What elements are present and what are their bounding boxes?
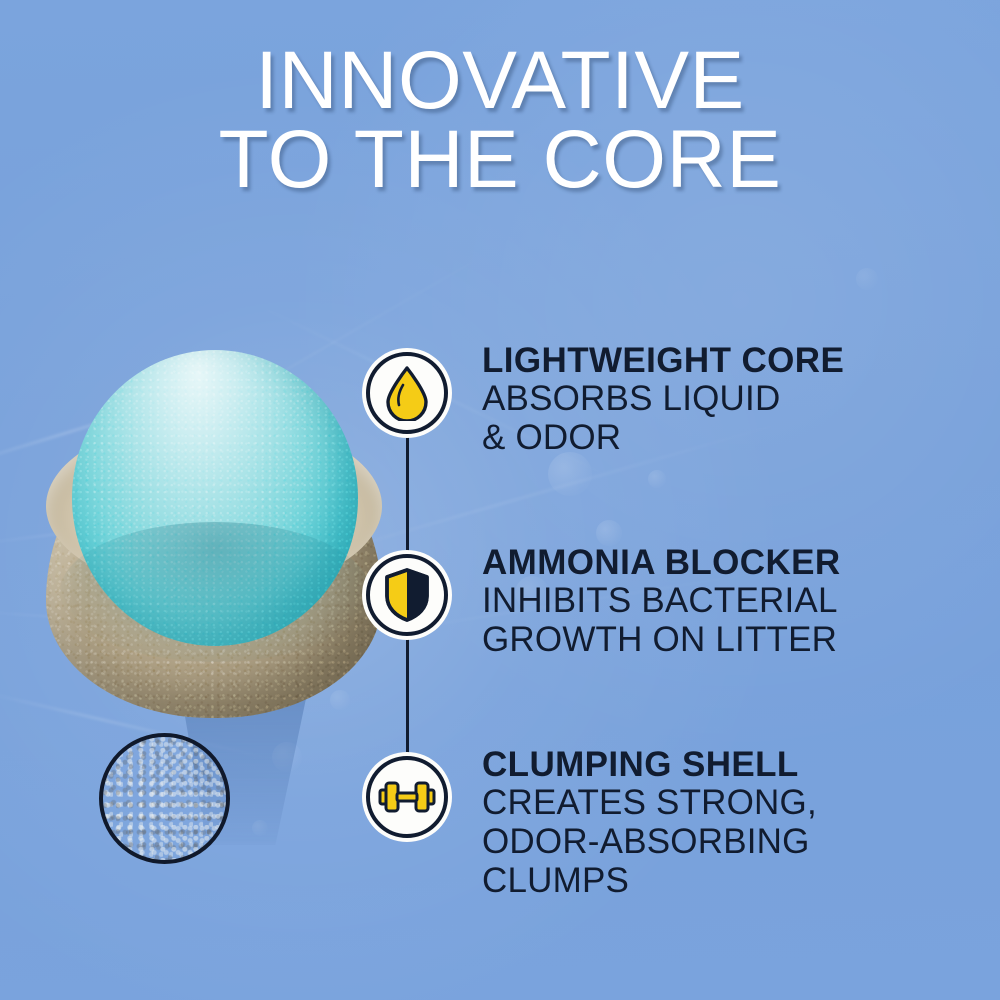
bokeh-dot: [272, 742, 302, 772]
feature-item-ammonia-blocker: AMMONIA BLOCKER INHIBITS BACTERIAL GROWT…: [366, 554, 966, 756]
feature-text-block: CLUMPING SHELL CREATES STRONG, ODOR-ABSO…: [482, 746, 817, 901]
droplet-icon-badge: [366, 352, 448, 434]
feature-description: INHIBITS BACTERIAL GROWTH ON LITTER: [482, 581, 841, 659]
feature-title: CLUMPING SHELL: [482, 746, 817, 783]
feature-text-block: AMMONIA BLOCKER INHIBITS BACTERIAL GROWT…: [482, 544, 841, 659]
granules-texture: [103, 737, 226, 860]
page-title: INNOVATIVE TO THE CORE: [0, 42, 1000, 199]
connector-line: [406, 636, 409, 758]
product-infographic-poster: INNOVATIVE TO THE CORE LIGHTWEIGHT CORE: [0, 0, 1000, 1000]
product-cutaway-illustration: [20, 340, 400, 720]
bokeh-dot: [252, 820, 268, 836]
dumbbell-icon: [378, 777, 436, 817]
connector-line: [406, 434, 409, 556]
shield-icon-badge: [366, 554, 448, 636]
feature-description: ABSORBS LIQUID & ODOR: [482, 379, 844, 457]
feature-list: LIGHTWEIGHT CORE ABSORBS LIQUID & ODOR A…: [366, 352, 966, 901]
bokeh-dot: [856, 268, 878, 290]
feature-text-block: LIGHTWEIGHT CORE ABSORBS LIQUID & ODOR: [482, 342, 844, 457]
feature-item-clumping-shell: CLUMPING SHELL CREATES STRONG, ODOR-ABSO…: [366, 756, 966, 901]
dumbbell-icon-badge: [366, 756, 448, 838]
feature-item-lightweight-core: LIGHTWEIGHT CORE ABSORBS LIQUID & ODOR: [366, 352, 966, 554]
core-texture: [72, 350, 358, 646]
feature-description: CREATES STRONG, ODOR-ABSORBING CLUMPS: [482, 783, 817, 901]
droplet-icon: [382, 365, 432, 421]
shield-icon: [383, 567, 431, 623]
inner-core: [72, 350, 358, 646]
feature-title: AMMONIA BLOCKER: [482, 544, 841, 581]
feature-title: LIGHTWEIGHT CORE: [482, 342, 844, 379]
litter-granules-inset: [99, 733, 230, 864]
